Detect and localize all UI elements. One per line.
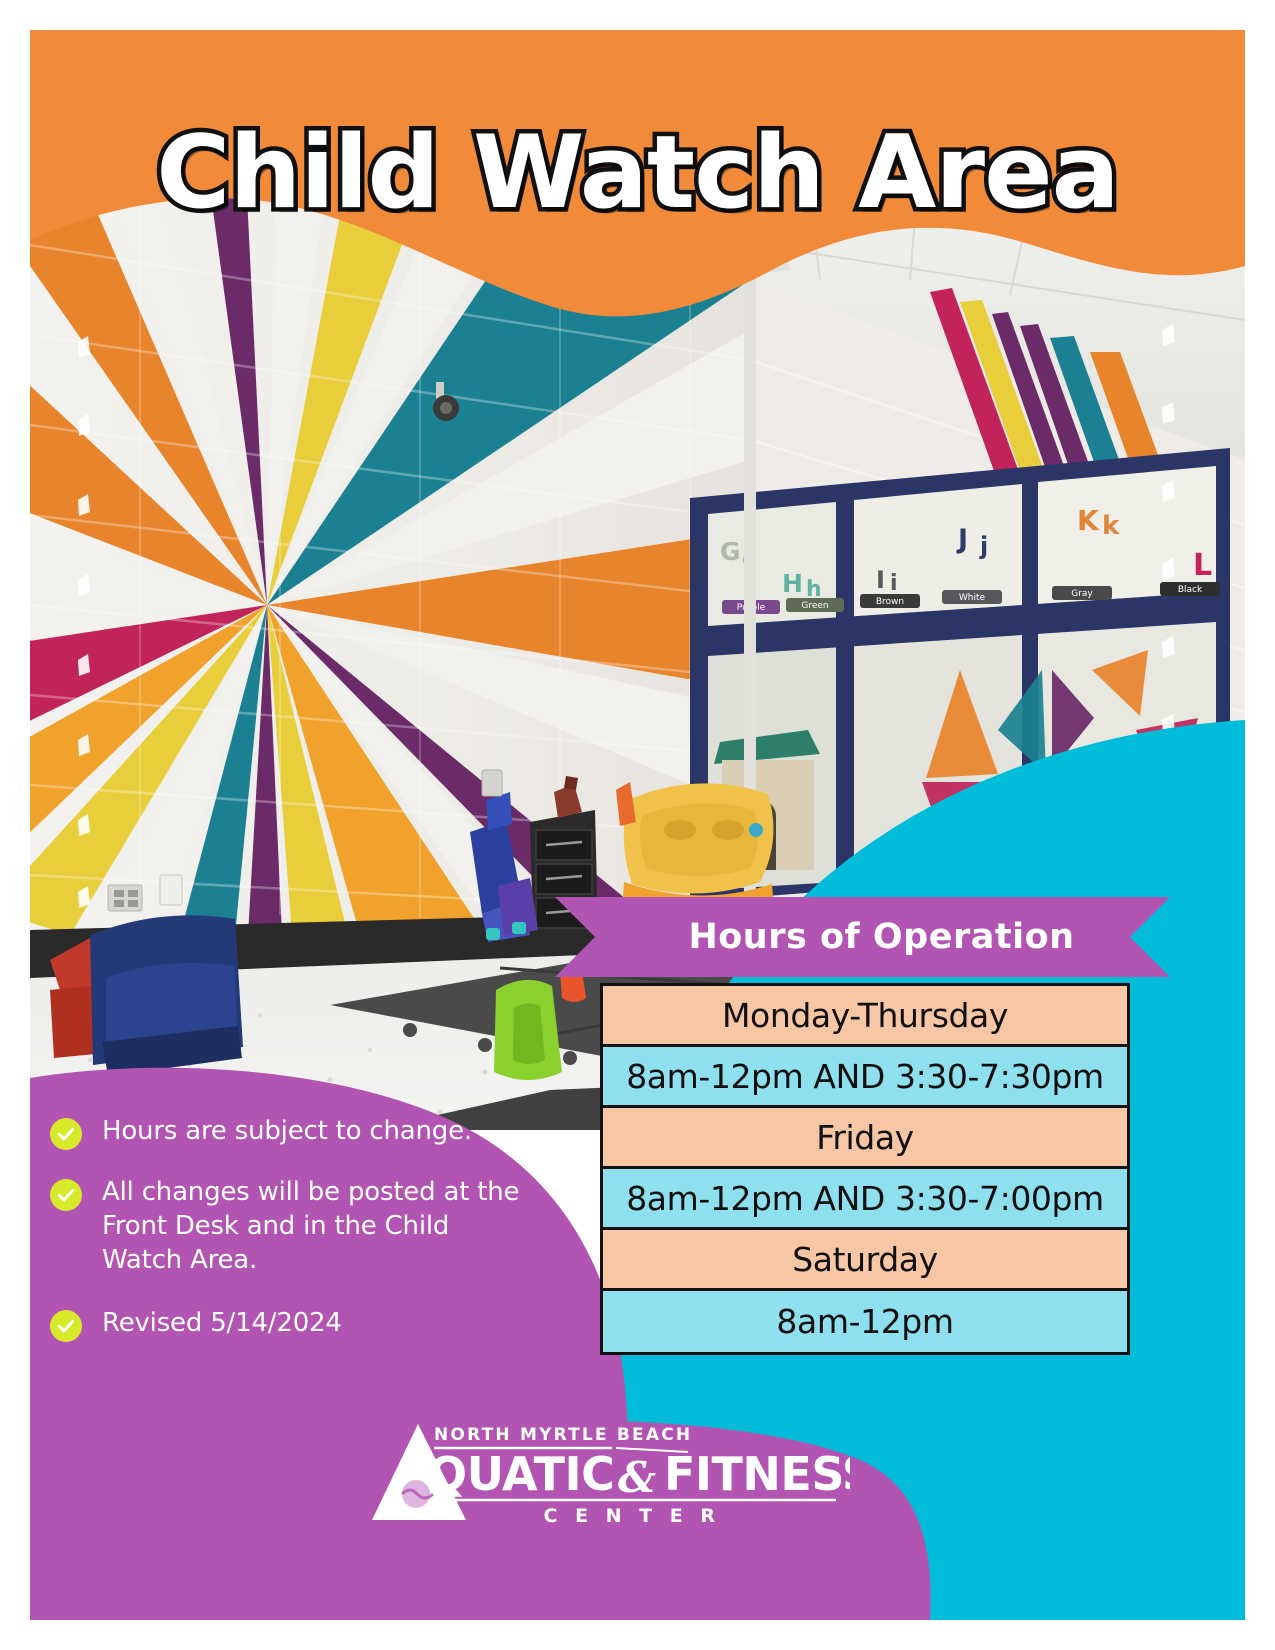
logo-line-2-fitness: FITNESS: [664, 1447, 850, 1501]
check-circle-icon: [50, 1310, 82, 1342]
list-item: Hours are subject to change.: [50, 1115, 550, 1150]
table-row: 8am-12pm AND 3:30-7:30pm: [603, 1047, 1127, 1108]
table-row: Monday-Thursday: [603, 986, 1127, 1047]
page-title: Child Watch Area: [30, 122, 1245, 223]
svg-text:Black: Black: [1178, 585, 1203, 595]
svg-text:H: H: [782, 569, 803, 598]
svg-text:L: L: [1193, 548, 1212, 583]
svg-text:j: j: [979, 532, 988, 560]
check-circle-icon: [50, 1118, 82, 1150]
logo-ampersand: &: [618, 1453, 656, 1502]
svg-text:k: k: [1102, 511, 1120, 541]
flyer-page: G g H h I i J j K k L: [0, 0, 1275, 1650]
logo-line-1: NORTH MYRTLE BEACH: [434, 1425, 692, 1445]
svg-text:Brown: Brown: [876, 597, 904, 607]
logo-line-3: C E N T E R: [544, 1505, 721, 1527]
note-text: All changes will be posted at the Front …: [102, 1176, 532, 1277]
svg-text:Green: Green: [801, 601, 828, 611]
svg-text:Gray: Gray: [1071, 589, 1093, 599]
table-row: Friday: [603, 1108, 1127, 1169]
check-circle-icon: [50, 1179, 82, 1211]
table-row: Saturday: [603, 1230, 1127, 1291]
svg-text:G: G: [720, 537, 741, 566]
note-text: Revised 5/14/2024: [102, 1307, 342, 1341]
table-row: 8am-12pm AND 3:30-7:00pm: [603, 1169, 1127, 1230]
svg-text:K: K: [1077, 504, 1100, 537]
hours-ribbon-label: Hours of Operation: [555, 897, 1170, 977]
svg-text:J: J: [956, 524, 968, 555]
svg-text:i: i: [890, 571, 898, 596]
svg-text:White: White: [959, 593, 986, 603]
list-item: Revised 5/14/2024: [50, 1307, 550, 1342]
note-text: Hours are subject to change.: [102, 1115, 472, 1149]
organization-logo: NORTH MYRTLE BEACH QUATIC & FITNESS C E …: [370, 1398, 850, 1528]
list-item: All changes will be posted at the Front …: [50, 1176, 550, 1277]
flyer-canvas: G g H h I i J j K k L: [30, 30, 1245, 1620]
notes-list: Hours are subject to change. All changes…: [50, 1115, 550, 1368]
hours-ribbon: Hours of Operation: [555, 897, 1170, 977]
hours-of-operation-table: Monday-Thursday 8am-12pm AND 3:30-7:30pm…: [600, 983, 1130, 1355]
logo-line-2-aquatic: QUATIC: [428, 1447, 614, 1501]
table-row: 8am-12pm: [603, 1291, 1127, 1352]
page-title-text: Child Watch Area: [156, 113, 1119, 231]
svg-text:I: I: [876, 566, 885, 594]
